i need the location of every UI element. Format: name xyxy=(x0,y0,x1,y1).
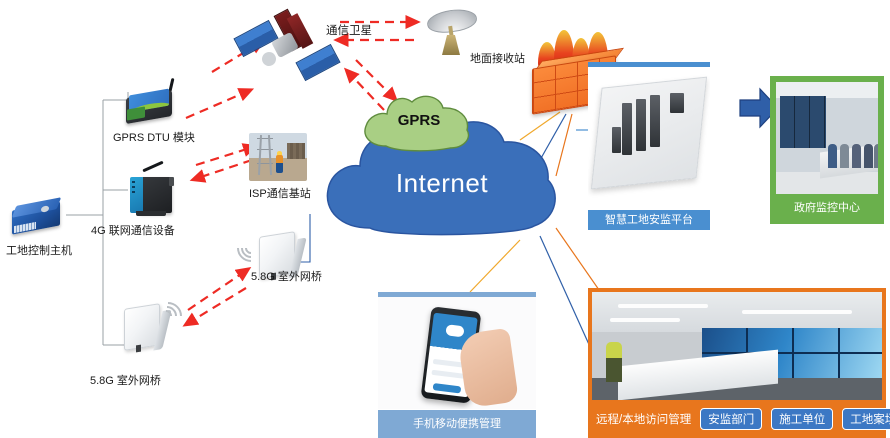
dtu-module-icon xyxy=(122,78,184,126)
control-host-label: 工地控制主机 xyxy=(6,242,72,258)
internet-label: Internet xyxy=(318,168,566,199)
gov-center-card[interactable]: 政府监控中心 xyxy=(770,76,884,224)
satellite-label: 通信卫星 xyxy=(326,22,372,38)
4g-router-icon xyxy=(122,165,188,217)
gov-center-caption: 政府监控中心 xyxy=(776,198,878,218)
ground-station-label: 地面接收站 xyxy=(470,50,525,66)
gprs-label: GPRS xyxy=(360,112,478,129)
network-architecture-diagram: 工地控制主机 GPRS DTU 模块 4G 联网通信设备 5.8G 室外网桥 I… xyxy=(0,0,890,438)
wireless-bridge-icon xyxy=(118,300,178,360)
platform-card[interactable]: 智慧工地安监平台 xyxy=(588,62,710,230)
access-management-label: 远程/本地访问管理 xyxy=(596,411,691,427)
cell-tower-icon xyxy=(249,133,307,181)
platform-caption: 智慧工地安监平台 xyxy=(588,210,710,230)
access-tags-row: 远程/本地访问管理 安监部门 施工单位 工地案场 xyxy=(592,404,882,434)
satellite-icon xyxy=(238,6,342,92)
smartphone-in-hand-icon xyxy=(378,297,536,409)
tag-safety-dept[interactable]: 安监部门 xyxy=(700,408,762,430)
gprs-cloud: GPRS xyxy=(360,92,478,154)
mobile-caption: 手机移动便携管理 xyxy=(378,410,536,438)
tag-construction-unit[interactable]: 施工单位 xyxy=(771,408,833,430)
mobile-card[interactable]: 手机移动便携管理 xyxy=(378,292,536,438)
monitoring-room-icon xyxy=(776,82,878,194)
4g-device-label: 4G 联网通信设备 xyxy=(91,222,175,238)
datacenter-icon xyxy=(588,67,710,202)
bridge-local-label: 5.8G 室外网桥 xyxy=(90,372,161,388)
isp-station-label: ISP通信基站 xyxy=(249,185,311,201)
control-room-photo xyxy=(592,292,882,400)
tag-site-field[interactable]: 工地案场 xyxy=(842,408,890,430)
control-room-card[interactable]: 远程/本地访问管理 安监部门 施工单位 工地案场 xyxy=(588,288,886,438)
bridge-remote-label: 5.8G 室外网桥 xyxy=(251,268,322,284)
dtu-module-label: GPRS DTU 模块 xyxy=(113,129,195,145)
control-host-icon xyxy=(8,198,66,238)
